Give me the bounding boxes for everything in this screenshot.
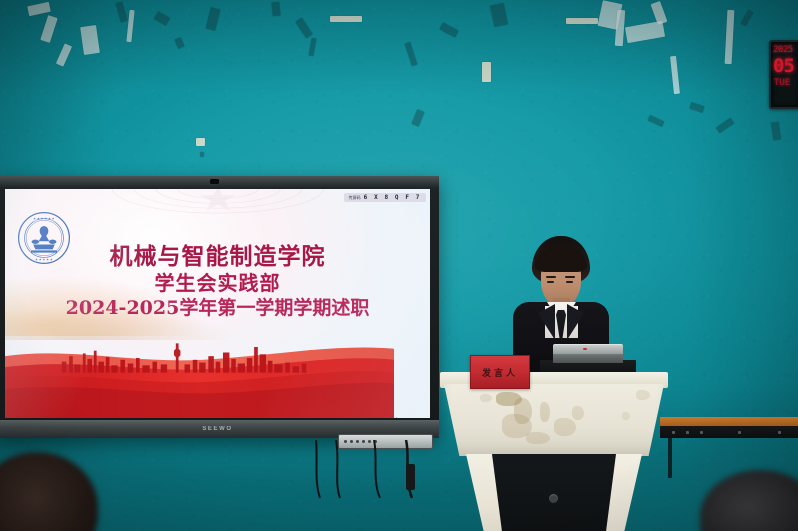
lectern-podium xyxy=(440,372,668,531)
hanging-cables xyxy=(310,440,440,500)
podium-laptop[interactable] xyxy=(553,344,623,363)
clock-year: 2025 xyxy=(773,45,793,55)
placard-text: 发言人 xyxy=(482,366,518,379)
display-top-bezel xyxy=(0,176,439,187)
photo-scene: 2025 05 TUE 传屏码 6 X xyxy=(0,0,798,531)
led-wall-clock: 2025 05 TUE xyxy=(769,40,798,109)
slide-title-line1: 机械与智能制造学院 xyxy=(5,243,430,270)
slide-title-block: 机械与智能制造学院 学生会实践部 2024-2025学年第一学期学期述职 xyxy=(5,243,430,322)
speaker-name-placard: 发言人 xyxy=(470,355,530,389)
laptop-indicator-icon xyxy=(583,348,587,350)
interactive-smart-display[interactable]: 传屏码 6 X 8 Q F 7 ★ ★ ★ ★ ★ ★ ★ ★ ★ ★ ★ xyxy=(0,176,439,438)
cast-code-badge: 传屏码 6 X 8 Q F 7 xyxy=(344,193,426,202)
slide-title-line3: 2024-2025学年第一学期学期述职 xyxy=(5,296,430,322)
clock-time: 05 xyxy=(773,55,794,77)
slide-title-line2: 学生会实践部 xyxy=(5,270,430,296)
side-desk-top xyxy=(660,417,798,426)
red-wave-skyline-graphic xyxy=(5,336,394,418)
cast-code-label: 传屏码 xyxy=(349,195,361,201)
side-desk-leg xyxy=(668,438,672,478)
svg-text:★ ★ ★ ★ ★ ★: ★ ★ ★ ★ ★ ★ xyxy=(33,217,55,221)
cast-code-value: 6 X 8 Q F 7 xyxy=(364,194,421,201)
display-screen[interactable]: 传屏码 6 X 8 Q F 7 ★ ★ ★ ★ ★ ★ ★ ★ ★ ★ ★ xyxy=(5,189,430,418)
clock-weekday: TUE xyxy=(774,78,790,88)
camera-icon xyxy=(210,179,219,184)
side-desk-front xyxy=(660,426,798,438)
display-brand-label: SEEWO xyxy=(202,426,232,432)
